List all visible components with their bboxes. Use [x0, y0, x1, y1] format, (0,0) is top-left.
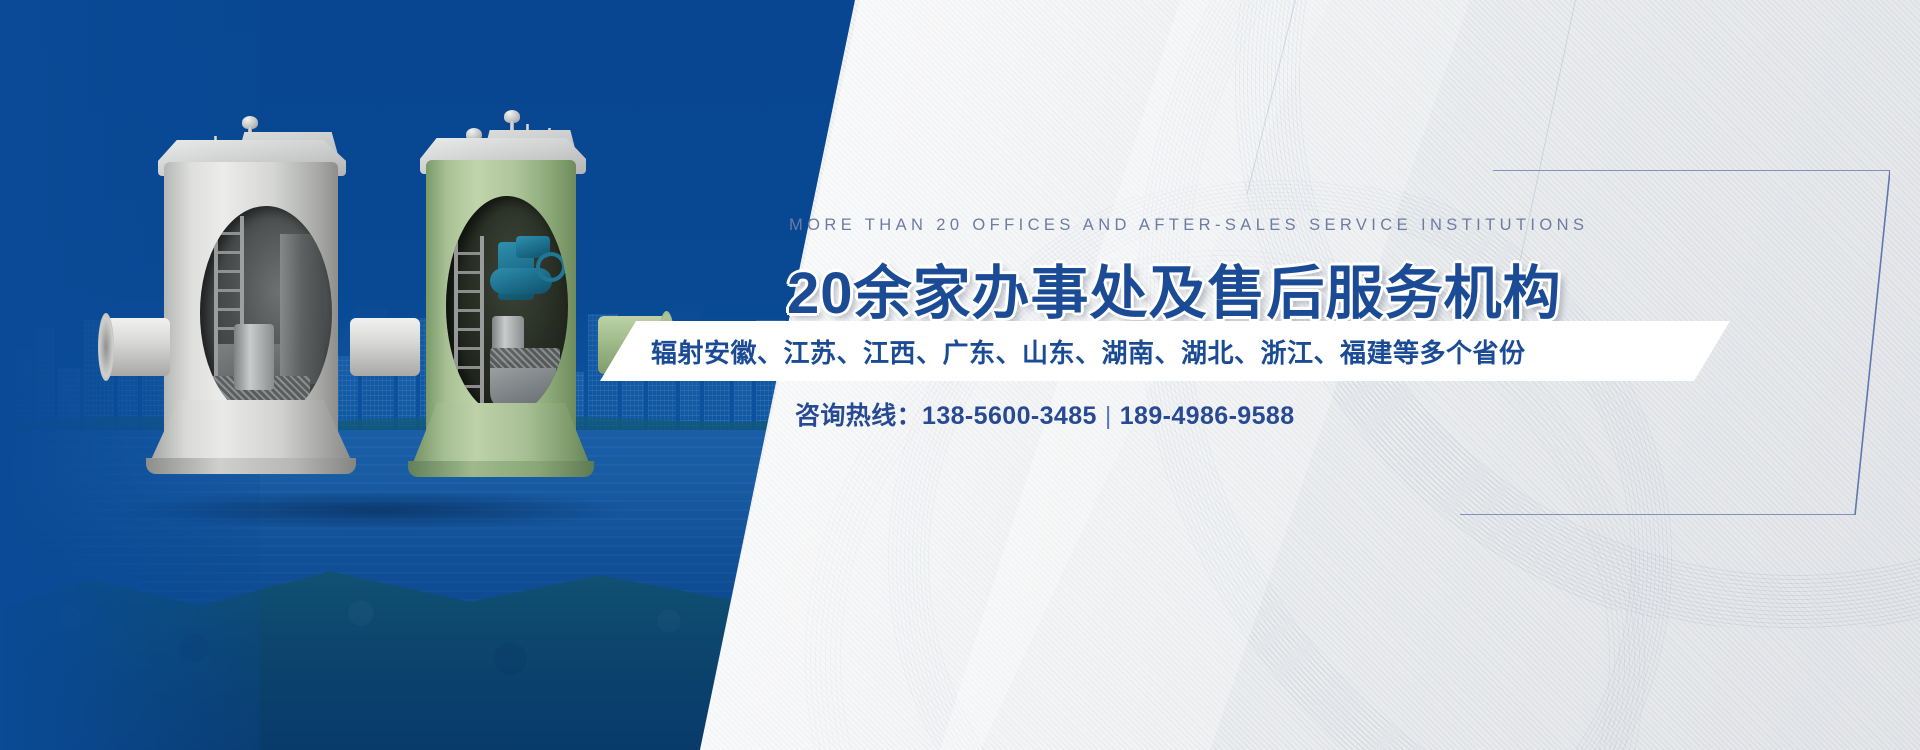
hotline-secondary[interactable]: 189-4986-9588	[1120, 402, 1295, 430]
page-title: 20余家办事处及售后服务机构	[787, 246, 1562, 330]
promo-banner: MORE THAN 20 OFFICES AND AFTER-SALES SER…	[0, 0, 1920, 750]
eyebrow-english-text: MORE THAN 20 OFFICES AND AFTER-SALES SER…	[789, 216, 1588, 235]
product-render-grey-pump-station	[140, 110, 370, 500]
hotline-label: 咨询热线：	[795, 402, 922, 430]
hotline-separator: |	[1097, 402, 1120, 430]
hotline-primary[interactable]: 138-5600-3485	[922, 402, 1097, 430]
hotline-row: 咨询热线：138-5600-3485|189-4986-9588	[795, 396, 1295, 432]
product-render-green-pump-station	[408, 108, 618, 503]
subtitle-text: 辐射安徽、江苏、江西、广东、山东、湖南、湖北、浙江、福建等多个省份	[651, 333, 1526, 370]
